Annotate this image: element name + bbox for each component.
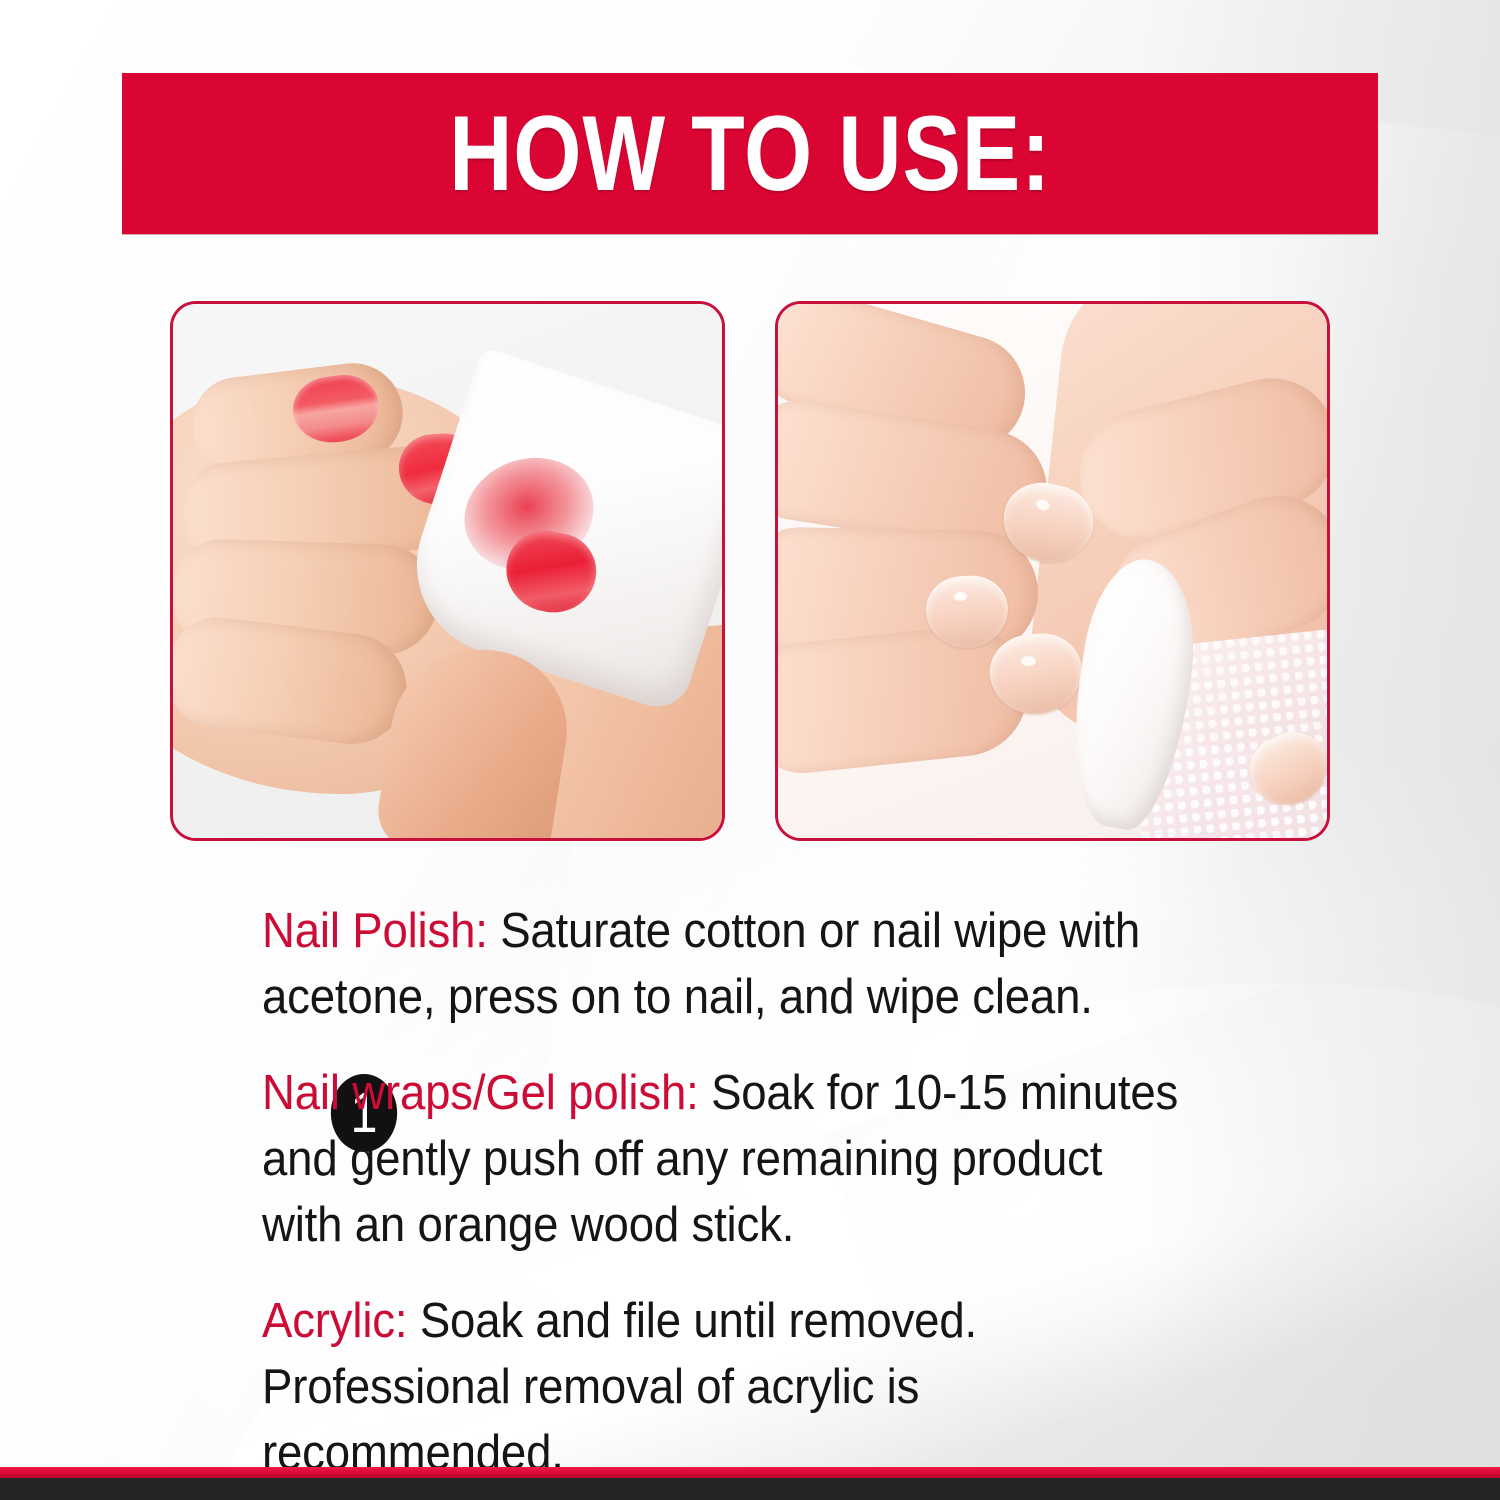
step-2-photo-frame: [775, 301, 1330, 841]
instruction-nail-polish: Nail Polish: Saturate cotton or nail wip…: [262, 898, 1192, 1030]
step-2: 2: [775, 301, 1330, 841]
instruction-acrylic: Acrylic: Soak and file until removed. Pr…: [262, 1288, 1192, 1486]
step-1-photo-frame: [170, 301, 725, 841]
step-1-photo: [173, 304, 722, 838]
instruction-label: Acrylic:: [262, 1294, 407, 1348]
instruction-nail-wraps-gel: Nail wraps/Gel polish: Soak for 10-15 mi…: [262, 1060, 1192, 1258]
infographic-page: HOW TO USE:: [0, 0, 1500, 1500]
instructions-block: Nail Polish: Saturate cotton or nail wip…: [262, 898, 1262, 1486]
nail-shine: [1021, 656, 1036, 666]
instruction-label: Nail Polish:: [262, 904, 488, 958]
footer-red-stripe: [0, 1467, 1500, 1478]
page-title: HOW TO USE:: [449, 100, 1051, 207]
step-2-photo: [778, 304, 1327, 838]
finger-shape: [778, 620, 1034, 779]
nail-shine: [954, 592, 967, 601]
footer-dark-bar: [0, 1478, 1500, 1500]
header-banner: HOW TO USE:: [122, 73, 1378, 234]
steps-row: 1: [170, 301, 1330, 843]
step-1: 1: [170, 301, 725, 841]
instruction-label: Nail wraps/Gel polish:: [262, 1066, 699, 1120]
